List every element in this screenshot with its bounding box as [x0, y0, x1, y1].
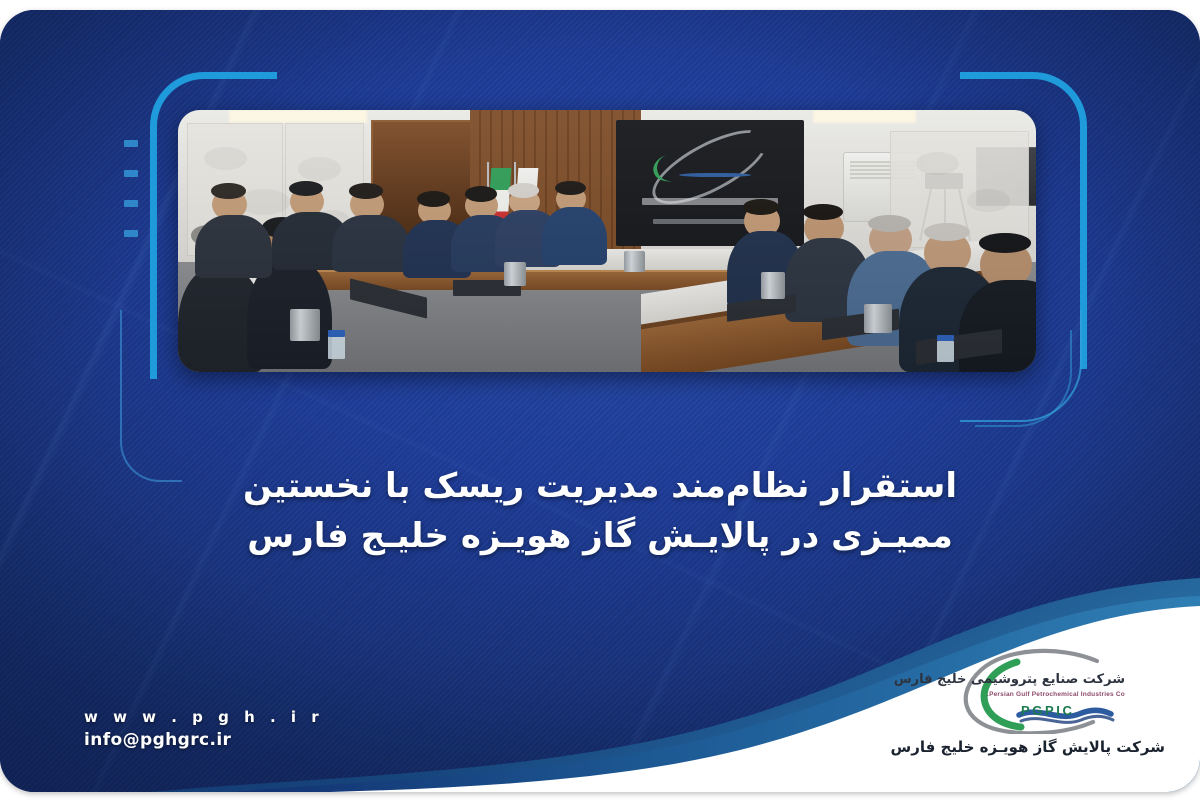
- logo-persian-name: شرکت صنایع پتروشیمی خلیج فارس: [985, 672, 1125, 687]
- thermos-flask: [864, 304, 891, 333]
- pgpic-logo: شرکت صنایع پتروشیمی خلیج فارس Persian Gu…: [925, 646, 1165, 774]
- headline-line-2: ممیـزی در پالایـش گاز هویـزه خلیـج فارس: [120, 512, 1080, 562]
- contact-block: w w w . p g h . i r info@pghgrc.ir: [84, 708, 324, 750]
- attendee-hair: [803, 204, 842, 220]
- wall-texture-dot: [967, 189, 1010, 213]
- logo-acronym: PGPIC: [1021, 703, 1074, 718]
- attendee-body: [332, 215, 409, 273]
- attendee-hair: [349, 183, 383, 199]
- thermos-flask: [504, 262, 526, 286]
- attendee-hair: [465, 186, 498, 202]
- ceiling-light: [813, 110, 916, 123]
- attendee-hair: [924, 223, 970, 241]
- wall-texture-dot: [298, 157, 341, 181]
- attendee-body: [542, 207, 607, 265]
- email-address[interactable]: info@pghgrc.ir: [84, 730, 324, 750]
- headline-line-1: استقرار نظام‌مند مدیریت ریسک با نخستین: [120, 462, 1080, 512]
- thermos-flask: [761, 272, 785, 298]
- water-bottle: [328, 335, 345, 359]
- poster-card: استقرار نظام‌مند مدیریت ریسک با نخستین م…: [0, 10, 1200, 792]
- accent-tick-marks: [124, 140, 138, 260]
- meeting-photo: [178, 110, 1036, 372]
- website-url[interactable]: w w w . p g h . i r: [84, 708, 324, 726]
- attendee-hair: [979, 233, 1030, 253]
- attendee-hair: [417, 191, 450, 207]
- backdrop-logo-icon: [646, 143, 774, 191]
- meeting-photo-scene: [178, 110, 1036, 372]
- ceiling-light: [229, 110, 366, 123]
- attendee-hair: [868, 215, 911, 232]
- attendee-hair: [743, 199, 779, 215]
- poster-headline: استقرار نظام‌مند مدیریت ریسک با نخستین م…: [0, 462, 1200, 561]
- attendee-body: [195, 215, 272, 278]
- bottle-cap: [937, 335, 953, 341]
- bottle-cap: [328, 330, 345, 337]
- attendee-hair: [508, 183, 539, 197]
- attendee-hair: [555, 181, 586, 195]
- thermos-flask: [624, 251, 645, 272]
- logo-english-name: Persian Gulf Petrochemical Industries Co…: [983, 691, 1129, 698]
- logo-subsidiary-name: شرکت پالایش گاز هویـزه خلیج فارس: [925, 738, 1165, 756]
- wall-texture-dot: [204, 147, 247, 171]
- water-bottle: [937, 341, 953, 362]
- thermos-flask: [290, 309, 321, 340]
- attendee-hair: [211, 183, 245, 199]
